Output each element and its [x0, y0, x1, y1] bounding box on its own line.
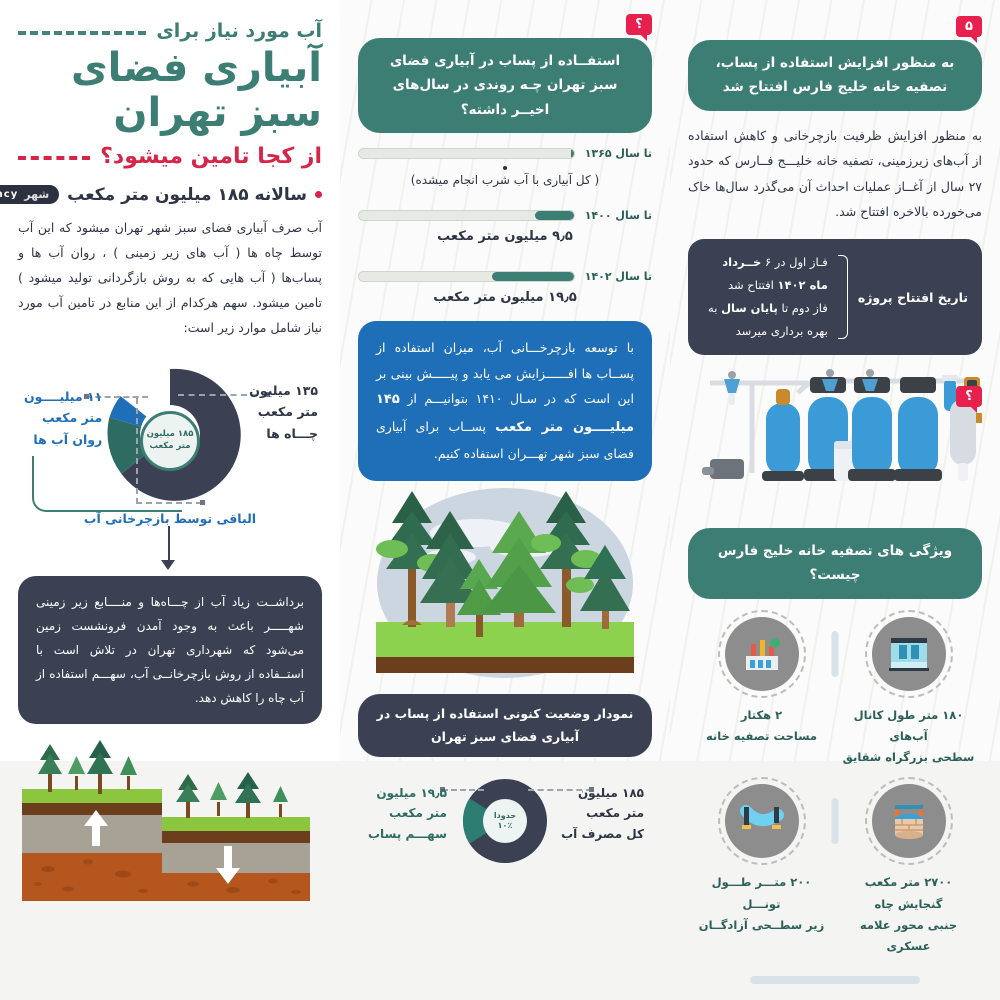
- treatment-plant-paragraph: به منظور افزایش ظرفیت بازچرخانی و کاهش ا…: [688, 123, 982, 226]
- water-sources-donut-chart: ۱۸۵ میلیون متر مکعب ۱۳۵ میلیون متر مکعب …: [18, 356, 322, 526]
- bottom-divider: [750, 976, 920, 984]
- bar-track-1[interactable]: [358, 148, 575, 159]
- features-row-1: ۱۸۰ متر طول کانال آب‌های سطحی بزرگراه شق…: [688, 617, 982, 769]
- bar-row-1: تا سال ۱۳۶۵: [358, 147, 652, 160]
- agency-handle: @ShahrAgency: [0, 189, 18, 200]
- highlight-bullet-row: سالانه ۱۸۵ میلیون متر مکعب @ShahrAgency …: [18, 185, 322, 205]
- bar-note-dot-icon: [503, 166, 507, 170]
- header-kicker-row: آب مورد نیاز برای: [18, 20, 322, 42]
- phase-one-a: فـاز اول در ۶: [765, 255, 828, 269]
- donut2-center-l2: ۱۰٪: [498, 821, 513, 831]
- donut2-center-label: حدودا ۱۰٪: [483, 799, 527, 843]
- well-icon: [872, 784, 946, 858]
- forest-svg: [358, 487, 652, 687]
- well-desc: جنبی محور علامه عسکری: [841, 915, 976, 958]
- donut-label-runoff: ۱۱ میلیــــون متر مکعب روان آب ها: [24, 386, 102, 452]
- donut2-label-total: ۱۸۵ میلیون متر مکعب کل مصرف آب: [561, 783, 644, 844]
- phase-one-c: افتتاح شد: [728, 278, 774, 292]
- brace-icon: [838, 255, 848, 339]
- runoff-unit: متر مکعب: [24, 407, 102, 429]
- badge-step-five: ۵: [956, 16, 982, 37]
- phase-two-date: پایان سال: [721, 301, 778, 315]
- bullet-dot-icon: [315, 191, 322, 198]
- left-column: ۵ به منظور افزایش استفاده از پساب، تصفیه…: [670, 0, 1000, 761]
- bar-note-1: ( کل آبیاری با آب شرب انجام میشده): [358, 173, 652, 187]
- callout-elbow-line: [32, 456, 182, 512]
- page-title: آبیاری فضای سبز تهران: [18, 46, 322, 136]
- subsidence-note-box: برداشــت زیاد آب از چـــاه‌ها و منــــاب…: [18, 576, 322, 724]
- donut-center-line1: ۱۸۵ میلیون: [147, 429, 194, 440]
- badge-question-mid: ؟: [626, 14, 652, 35]
- shahr-mark-icon: شهر: [24, 188, 49, 201]
- factory-icon-svg: [740, 632, 784, 676]
- project-date-label: تاریخ افتتاح پروژه: [858, 290, 968, 305]
- bar-track-3[interactable]: [358, 271, 575, 282]
- well-icon-svg: [887, 799, 931, 843]
- water-treatment-equipment-illustration: [688, 363, 982, 498]
- factory-icon: [725, 617, 799, 691]
- forecast-note-box: با توسعه بازچرخـــانی آب، میزان استفاده …: [358, 321, 652, 481]
- project-date-box: تاریخ افتتاح پروژه فـاز اول در ۶ خــرداد…: [688, 239, 982, 355]
- trend-bars-group: تا سال ۱۳۶۵ ( کل آبیاری با آب شرب انجام …: [358, 147, 652, 305]
- right-column: آب مورد نیاز برای آبیاری فضای سبز تهران …: [0, 0, 340, 761]
- features-divider-2: [832, 798, 839, 844]
- leader-dot-bottom: [200, 500, 205, 505]
- feature-item-area: ۲ هکتار مساحت تصفیه خانه: [694, 617, 829, 748]
- bar-fill-2: [535, 211, 574, 220]
- connector-line-vertical: [168, 526, 170, 560]
- well-value: ۲۷۰۰ متر مکعب گنجایش چاه: [841, 872, 976, 915]
- total-unit: متر مکعب: [561, 803, 644, 823]
- canal-icon-svg: [887, 632, 931, 676]
- right-block: [162, 817, 310, 901]
- bar-row-2: تا سال ۱۴۰۰: [358, 209, 652, 222]
- tank-large-3: [894, 377, 942, 481]
- highlight-amount: سالانه ۱۸۵ میلیون متر مکعب: [67, 185, 307, 205]
- header-paragraph: آب صرف آبیاری فضای سبز شهر تهران میشود ک…: [18, 215, 322, 340]
- canal-desc: سطحی بزرگراه شقایق: [841, 747, 976, 768]
- wastewater-share-donut-chart: حدودا ۱۰٪ ۱۸۵ میلیون متر مکعب کل مصرف آب…: [358, 767, 652, 882]
- area-value: ۲ هکتار: [694, 705, 829, 726]
- area-desc: مساحت تصفیه خانه: [694, 726, 829, 747]
- forest-illustration: [358, 487, 652, 692]
- trees-left-group: [38, 740, 137, 794]
- runoff-value: ۱۱ میلیــــون: [24, 386, 102, 408]
- project-date-lines: فـاز اول در ۶ خــرداد ماه ۱۴۰۲ افتتاح شد…: [702, 251, 828, 343]
- bar-fill-1: [571, 149, 574, 158]
- feature-item-canal: ۱۸۰ متر طول کانال آب‌های سطحی بزرگراه شق…: [841, 617, 976, 769]
- tunnel-icon: [725, 784, 799, 858]
- feature-caption-canal: ۱۸۰ متر طول کانال آب‌های سطحی بزرگراه شق…: [841, 705, 976, 769]
- tunnel-desc: زیر سطــحی آزادگــان: [694, 915, 829, 936]
- land-subsidence-illustration: [18, 734, 322, 909]
- phase-one-line: فـاز اول در ۶ خــرداد ماه ۱۴۰۲ افتتاح شد: [702, 251, 828, 297]
- pressure-vessel-icon: [950, 399, 982, 481]
- donut-label-wells: ۱۳۵ میلیون متر مکعب چـــاه ها: [249, 380, 318, 446]
- share-value: ۱۹٫۵ میلیون: [368, 783, 447, 803]
- donut2-center-l1: حدودا: [494, 811, 516, 821]
- header-kicker: آب مورد نیاز برای: [156, 20, 322, 42]
- treatment-plant-heading: به منظور افزایش استفاده از پساب، تصفیه خ…: [688, 40, 982, 111]
- equipment-svg: [688, 363, 982, 495]
- infographic-page: آب مورد نیاز برای آبیاری فضای سبز تهران …: [0, 0, 1000, 761]
- tunnel-value: ۲۰۰ متـــر طـــول تونـــل: [694, 872, 829, 915]
- total-name: کل مصرف آب: [561, 824, 644, 844]
- feature-caption-tunnel: ۲۰۰ متـــر طـــول تونـــل زیر سطــحی آزا…: [694, 872, 829, 936]
- connector-arrow-down-icon: [161, 560, 175, 570]
- subtitle-dash-line: [18, 156, 90, 160]
- wells-name: چـــاه ها: [249, 423, 318, 445]
- current-status-chart-heading: نمودار وضعیت کنونی استفاده از پساب در آب…: [358, 694, 652, 757]
- bar-row-3: تا سال ۱۴۰۲: [358, 270, 652, 283]
- feature-caption-area: ۲ هکتار مساحت تصفیه خانه: [694, 705, 829, 748]
- badge-question-left: ؟: [956, 386, 982, 407]
- middle-column: ؟ استفــاده از پساب در آبیاری فضای سبز ت…: [340, 0, 670, 761]
- header-subtitle: از کجا تامین میشود؟: [100, 144, 322, 169]
- tank-large-2: [848, 377, 896, 481]
- canal-icon: [872, 617, 946, 691]
- bar-caption-3: ۱۹٫۵ میلیون متر مکعب: [358, 290, 652, 305]
- feature-caption-well: ۲۷۰۰ متر مکعب گنجایش چاه جنبی محور علامه…: [841, 872, 976, 957]
- tunnel-icon-svg: [740, 799, 784, 843]
- wells-unit: متر مکعب: [249, 401, 318, 423]
- feature-item-well: ۲۷۰۰ متر مکعب گنجایش چاه جنبی محور علامه…: [841, 784, 976, 957]
- features-divider-1: [832, 631, 839, 677]
- share-name: سهـــم پساب: [368, 824, 447, 844]
- donut2-label-share: ۱۹٫۵ میلیون متر مکعب سهـــم پساب: [368, 783, 447, 844]
- phase-two-line: فاز دوم تا پایان سال به بهره برداری میرس…: [702, 297, 828, 343]
- features-question-heading: ویژگی های تصفیه خانه خلیج فارس چیست؟: [688, 528, 982, 599]
- bar-caption-2: ۹٫۵ میلیون متر مکعب: [358, 229, 652, 244]
- left-block: [22, 789, 162, 901]
- canal-value: ۱۸۰ متر طول کانال آب‌های: [841, 705, 976, 748]
- bar-year-label-1: تا سال ۱۳۶۵: [585, 147, 652, 160]
- trees-right-group: [176, 772, 288, 818]
- features-row-2: ۲۷۰۰ متر مکعب گنجایش چاه جنبی محور علامه…: [688, 784, 982, 957]
- donut-center-line2: متر مکعب: [150, 441, 191, 452]
- kicker-dash-line: [18, 31, 146, 35]
- forecast-text-part1: با توسعه بازچرخـــانی آب، میزان استفاده …: [376, 340, 634, 406]
- share-unit: متر مکعب: [368, 803, 447, 823]
- subsidence-svg: [18, 734, 322, 904]
- tank-small: [762, 389, 804, 481]
- trend-question-heading: استفــاده از پساب در آبیاری فضای سبز تهر…: [358, 38, 652, 133]
- header-subtitle-row: از کجا تامین میشود؟: [18, 144, 322, 169]
- bar-fill-3: [492, 272, 574, 281]
- valve-icon-1: [724, 371, 740, 405]
- bar-year-label-3: تا سال ۱۴۰۲: [585, 270, 652, 283]
- agency-logo-badge: @ShahrAgency شهر: [0, 185, 59, 204]
- phase-two-a: فاز دوم تا: [781, 301, 827, 315]
- donut2-leader-left: [442, 789, 484, 791]
- bar-track-2[interactable]: [358, 210, 575, 221]
- runoff-name: روان آب ها: [24, 429, 102, 451]
- bar-year-label-2: تا سال ۱۴۰۰: [585, 209, 652, 222]
- total-value: ۱۸۵ میلیون: [561, 783, 644, 803]
- feature-item-tunnel: ۲۰۰ متـــر طـــول تونـــل زیر سطــحی آزا…: [694, 784, 829, 936]
- pump-unit: [702, 459, 744, 479]
- wells-value: ۱۳۵ میلیون: [249, 380, 318, 402]
